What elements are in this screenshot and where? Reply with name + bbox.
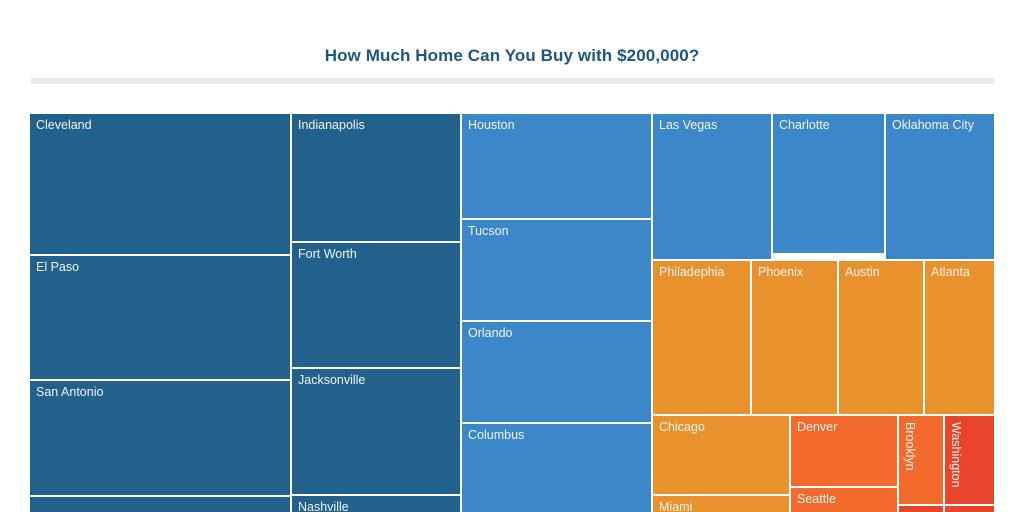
treemap-tile-label: Orlando [468,325,512,341]
treemap-tile-label: Indianapolis [298,117,365,133]
treemap-tile-philadephia[interactable]: Philadephia [653,261,750,414]
treemap-tile-label: Charlotte [779,117,830,133]
treemap-tile-label: Cleveland [36,117,92,133]
treemap-tile-label: Brooklyn [902,422,918,471]
treemap-tile-label: Austin [845,264,880,280]
treemap-tile-label: San Antonio [36,384,103,400]
treemap-tile-las-vegas[interactable]: Las Vegas [653,114,771,259]
treemap-tile-label: Phoenix [758,264,803,280]
treemap-tile-phoenix[interactable]: Phoenix [752,261,837,414]
treemap-chart: ClevelandEl PasoSan AntonioIndianapolisF… [30,114,994,512]
page-title: How Much Home Can You Buy with $200,000? [0,44,1024,68]
treemap-tile-cleveland[interactable]: Cleveland [30,114,290,254]
treemap-tile-el-paso[interactable]: El Paso [30,256,290,379]
treemap-tile-label: Seattle [797,491,836,507]
treemap-tile-fort-worth[interactable]: Fort Worth [292,243,460,367]
treemap-tile-label: Miami [659,499,692,512]
treemap-tile-label: Tucson [468,223,509,239]
treemap-tile-label: Washington [948,422,964,488]
treemap-tile-washington[interactable]: Washington [945,416,994,504]
treemap-tile-oklahoma-city[interactable]: Oklahoma City [886,114,994,259]
treemap-tile-atlanta[interactable]: Atlanta [925,261,994,414]
treemap-tile-brooklyn[interactable]: Brooklyn [899,416,943,504]
treemap-tile-columbus[interactable]: Columbus [462,424,651,512]
treemap-tile-label: Philadephia [659,264,724,280]
treemap-tile-chicago[interactable]: Chicago [653,416,789,494]
treemap-tile-label: Jacksonville [298,372,365,388]
treemap-tile-charlotte[interactable]: Charlotte [773,114,884,253]
treemap-tile-miami[interactable]: Miami [653,496,789,512]
treemap-tile-nashville[interactable]: Nashville [292,496,460,512]
treemap-tile[interactable] [899,506,943,512]
treemap-tile-label: El Paso [36,259,79,275]
treemap-tile-denver[interactable]: Denver [791,416,897,486]
title-divider [31,78,994,84]
treemap-tile-label: Houston [468,117,515,133]
treemap-tile-austin[interactable]: Austin [839,261,923,414]
treemap-tile-label: Columbus [468,427,524,443]
treemap-tile-indianapolis[interactable]: Indianapolis [292,114,460,241]
treemap-page: How Much Home Can You Buy with $200,000?… [0,0,1024,512]
treemap-tile-label: Las Vegas [659,117,717,133]
treemap-tile-label: Atlanta [931,264,970,280]
treemap-tile-label: Chicago [659,419,705,435]
treemap-tile-label: Denver [797,419,837,435]
treemap-tile-jacksonville[interactable]: Jacksonville [292,369,460,494]
treemap-tile-label: Fort Worth [298,246,357,262]
treemap-tile[interactable] [30,497,290,512]
treemap-tile-label: Oklahoma City [892,117,974,133]
treemap-tile-san-antonio[interactable]: San Antonio [30,381,290,495]
treemap-tile-label: Nashville [298,499,349,512]
treemap-tile-houston[interactable]: Houston [462,114,651,218]
treemap-tile-tucson[interactable]: Tucson [462,220,651,320]
treemap-tile-orlando[interactable]: Orlando [462,322,651,422]
treemap-tile-seattle[interactable]: Seattle [791,488,897,512]
treemap-tile[interactable] [945,506,994,512]
